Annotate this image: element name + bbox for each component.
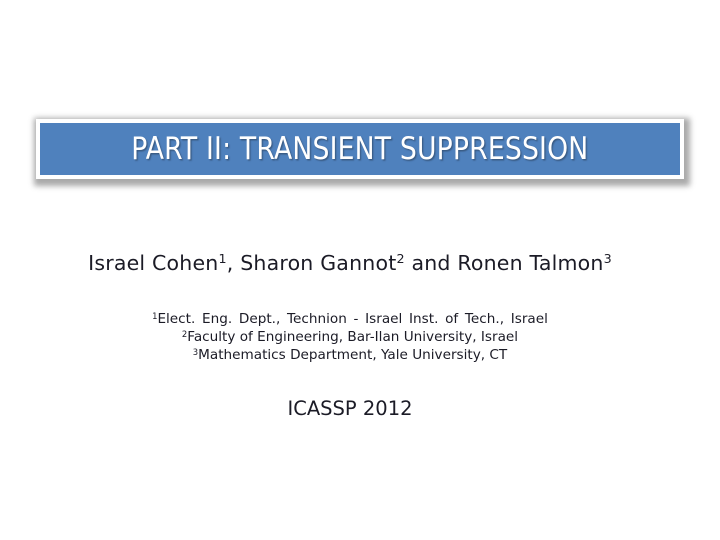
affiliation-block: 1Elect. Eng. Dept., Technion - Israel In… [0,310,700,364]
affiliation-text: Elect. Eng. Dept., Technion - Israel Ins… [157,311,547,327]
venue-line: ICASSP 2012 [0,397,700,420]
author-affiliation-marker-1: 1 [218,251,226,266]
title-banner-fill: PART II: TRANSIENT SUPPRESSION [40,123,680,175]
presentation-slide: PART II: TRANSIENT SUPPRESSION Israel Co… [0,0,720,540]
author-affiliation-marker-2: 2 [396,251,404,266]
affiliation-marker: 2 [182,329,187,339]
affiliation-line: 3Mathematics Department, Yale University… [0,346,700,364]
author-name-2: Sharon Gannot [240,251,396,275]
venue-text: ICASSP 2012 [287,397,412,420]
author-separator-2: and [405,251,458,275]
author-name-1: Israel Cohen [88,251,218,275]
author-line: Israel Cohen1, Sharon Gannot2 and Ronen … [0,251,700,276]
affiliation-text: Faculty of Engineering, Bar-Ilan Univers… [187,329,518,345]
affiliation-line: 1Elect. Eng. Dept., Technion - Israel In… [0,310,700,328]
author-affiliation-marker-3: 3 [604,251,612,266]
author-separator-1: , [227,251,240,275]
affiliation-text: Mathematics Department, Yale University,… [198,347,507,363]
author-name-3: Ronen Talmon [457,251,603,275]
affiliation-line: 2Faculty of Engineering, Bar-Ilan Univer… [0,328,700,346]
title-banner: PART II: TRANSIENT SUPPRESSION [30,114,690,186]
slide-title: PART II: TRANSIENT SUPPRESSION [131,134,588,165]
affiliation-marker: 1 [152,311,157,321]
affiliation-marker: 3 [193,347,198,357]
